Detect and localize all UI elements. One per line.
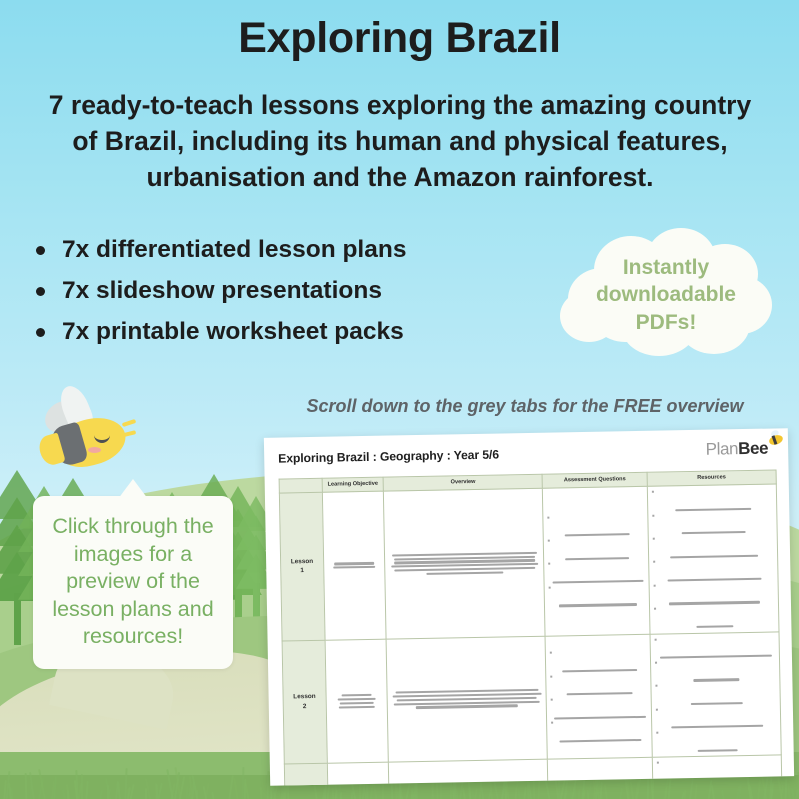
grass-blade (124, 768, 127, 799)
preview-callout-text: Click through the images for a preview o… (52, 514, 213, 648)
grass-blade (331, 788, 334, 799)
grass-blade (127, 787, 131, 799)
grass-blade (178, 776, 185, 799)
column-header-blank (279, 478, 322, 493)
grass-blade (619, 788, 623, 799)
grass-blade (8, 783, 11, 799)
bee-mascot-icon (30, 383, 135, 478)
resources-cell (652, 755, 784, 785)
list-item: 7x differentiated lesson plans (28, 236, 528, 264)
grass-blade (38, 778, 44, 799)
grass-blade (761, 773, 768, 799)
grass-blade (515, 787, 517, 799)
grass-blade (115, 781, 119, 799)
grass-blade (650, 776, 653, 799)
assessment-item (549, 562, 647, 602)
grass-blade (399, 783, 403, 799)
grass-blade (770, 782, 774, 799)
grass-blade (107, 785, 109, 799)
scroll-hint: Scroll down to the grey tabs for the FRE… (290, 396, 760, 417)
grass-blade (785, 774, 788, 799)
grass-blade (757, 780, 761, 799)
grass-blade (406, 782, 411, 799)
grass-blade (25, 773, 28, 799)
grass-blade (322, 788, 326, 799)
grass-blade (334, 790, 337, 799)
grass-blade (363, 786, 367, 799)
grass-blade (528, 790, 531, 799)
grass-blade (411, 788, 414, 799)
grass-blade (468, 787, 471, 799)
grass-blade (738, 781, 742, 799)
grass-blade (599, 782, 603, 799)
grass-blade (747, 773, 752, 799)
learning-objective-cell (322, 491, 386, 639)
grass-blade (462, 788, 466, 799)
resource-item (656, 707, 779, 747)
assessment-item (550, 651, 648, 691)
grass-blade (746, 777, 752, 799)
grass-blade (74, 779, 78, 799)
lesson-number: 2 (303, 703, 307, 710)
grass-blade (574, 781, 577, 799)
grass-blade (570, 785, 573, 799)
grass-blade (664, 786, 667, 799)
resource-item (654, 607, 777, 629)
assessment-item (548, 515, 646, 555)
grass-blade (52, 781, 56, 799)
grass-blade (340, 792, 343, 799)
grass-blade (11, 787, 14, 799)
grass-blade (736, 786, 740, 799)
logo-text-bee: Bee (738, 439, 768, 460)
resource-item (657, 784, 780, 785)
grass-blade (272, 784, 277, 799)
grass-blade (396, 787, 400, 799)
grass-blade (196, 790, 198, 799)
table-body: Lesson1Lesson2Lesson3Lesson4Lesson5Lesso… (279, 484, 794, 786)
grass-blade (713, 791, 717, 799)
grass-blade (770, 789, 774, 799)
grass-blade (191, 783, 195, 799)
bee-cheek (88, 447, 101, 453)
grass-blade (127, 788, 130, 799)
grass-blade (351, 792, 354, 799)
assessment-item (551, 674, 649, 714)
grass-blade (85, 781, 88, 799)
assessment-item (551, 721, 649, 743)
lesson-number: 1 (300, 568, 304, 575)
grass-blade (578, 789, 581, 799)
grass-blade (53, 776, 57, 799)
grass-blade (564, 790, 568, 799)
assessment-questions-cell (545, 634, 652, 760)
cloud-badge-line-1: Instantly (623, 256, 709, 279)
assessment-questions-cell (543, 487, 650, 636)
grass-blade (266, 771, 269, 799)
cloud-badge-text: Instantly downloadable PDFs! (560, 254, 772, 336)
assessment-item (551, 697, 649, 737)
grass-blade (76, 770, 79, 799)
preview-callout[interactable]: Click through the images for a preview o… (33, 496, 233, 669)
grass-blade (6, 771, 11, 799)
grass-blade (62, 788, 66, 799)
grass-blade (707, 780, 712, 799)
assessment-item (549, 585, 647, 607)
grass-blade (450, 784, 455, 799)
grass-blade (166, 769, 173, 799)
grass-blade (154, 783, 157, 799)
lesson-label: Lesson (293, 693, 315, 700)
grass-blade (791, 788, 795, 799)
resource-item (655, 660, 778, 700)
grass-blade (170, 783, 175, 799)
logo-text-plan: Plan (706, 439, 739, 460)
grass-blade (38, 770, 46, 799)
grass-blade (158, 783, 163, 799)
grass-blade (277, 785, 281, 799)
table-row: Lesson1 (279, 484, 779, 640)
lesson-number-cell: Lesson3 (284, 764, 329, 786)
grass-blade (367, 783, 369, 799)
overview-cell (386, 636, 547, 763)
grass-blade (174, 772, 180, 799)
overview-cell (389, 760, 551, 786)
cloud-badge-line-3: PDFs! (636, 311, 697, 334)
lesson-label: Lesson (291, 558, 313, 565)
grass-blade (571, 779, 577, 799)
grass-blade (105, 778, 111, 799)
grass-blade (228, 775, 234, 799)
page-subtitle: 7 ready-to-teach lessons exploring the a… (40, 88, 760, 195)
resource-item (657, 761, 780, 786)
grass-blade (233, 778, 238, 799)
column-header-learning-objective: Learning Objective (322, 477, 384, 492)
grass-blade (634, 780, 639, 799)
grass-blade (260, 787, 263, 799)
lesson-number-cell: Lesson1 (279, 493, 324, 641)
callout-tail (118, 479, 148, 499)
grass-blade (66, 784, 70, 799)
grass-blade (587, 790, 590, 799)
grass-blade (144, 778, 150, 799)
grass-blade (175, 767, 182, 799)
grass-blade (517, 789, 520, 799)
grass-blade (188, 776, 192, 799)
grass-blade (493, 780, 499, 799)
grass-blade (203, 786, 208, 799)
grass-blade (244, 779, 246, 799)
promo-graphic: Exploring Brazil 7 ready-to-teach lesson… (0, 0, 799, 799)
document-title: Exploring Brazil : Geography : Year 5/6 (278, 444, 499, 466)
grass-blade (604, 784, 608, 799)
grass-blade (455, 789, 459, 799)
resource-item (652, 490, 775, 530)
grass-blade (155, 784, 158, 799)
grass-blade (694, 783, 698, 799)
grass-blade (78, 783, 82, 799)
grass-blade (596, 788, 600, 799)
grass-blade (204, 783, 209, 799)
grass-blade (624, 783, 629, 799)
learning-objective-cell (327, 762, 391, 785)
grass-blade (29, 772, 35, 799)
grass-blade (780, 785, 784, 799)
cloud-badge: Instantly downloadable PDFs! (560, 228, 772, 356)
planbee-logo: PlanBee (706, 438, 777, 459)
grass-blade (192, 775, 199, 799)
resources-cell (647, 484, 779, 634)
grass-blade (554, 779, 559, 799)
grass-blade (763, 775, 769, 799)
page-title: Exploring Brazil (0, 14, 799, 63)
grass-blade (3, 779, 7, 799)
grass-blade (787, 784, 791, 799)
grass-blade (189, 788, 192, 799)
assessment-item (548, 539, 646, 579)
grass-blade (748, 785, 753, 799)
grass-blade (598, 779, 600, 799)
grass-blade (684, 790, 687, 799)
grass-blade (711, 785, 715, 799)
grass-blade (107, 789, 111, 799)
grass-blade (117, 782, 121, 799)
resource-item (653, 583, 776, 623)
grass-blade (187, 792, 191, 799)
table-row: Lesson2 (282, 631, 781, 764)
resource-item (655, 684, 778, 724)
grass-blade (155, 789, 159, 799)
grass-blade (474, 788, 478, 799)
grass-blade (681, 792, 684, 799)
bee-buzz-line (122, 419, 137, 427)
resource-item (654, 637, 777, 677)
grass-blade (382, 781, 384, 799)
lesson-number-cell: Lesson2 (282, 640, 327, 765)
overview-cell (384, 488, 546, 638)
grass-blade (523, 787, 526, 799)
cloud-badge-line-2: downloadable (596, 283, 736, 306)
grass-blade (67, 790, 69, 799)
grass-blade (186, 786, 189, 799)
grass-blade (778, 777, 784, 799)
grass-blade (81, 774, 83, 799)
grass-blade (721, 790, 725, 799)
grass-blade (211, 792, 214, 799)
grass-blade (488, 789, 492, 799)
resource-item (653, 560, 776, 600)
list-item: 7x printable worksheet packs (28, 318, 528, 346)
grass-blade (453, 780, 458, 799)
grass-blade (652, 777, 654, 799)
grass-blade (99, 790, 102, 799)
grass-blade (129, 784, 134, 799)
scheme-of-work-table: Learning Objective Overview Assessment Q… (279, 469, 795, 785)
grass-blade (174, 783, 178, 799)
grass-blade (244, 782, 249, 799)
learning-objective-cell (325, 639, 389, 764)
grass-blade (30, 780, 32, 799)
feature-list: 7x differentiated lesson plans 7x slides… (28, 236, 528, 360)
grass-blade (582, 790, 585, 799)
grass-blade (471, 788, 475, 799)
assessment-questions-cell (548, 758, 655, 786)
grass-blade (399, 787, 402, 799)
grass-blade (749, 791, 751, 799)
grass-blade (270, 786, 273, 799)
grass-blade (650, 776, 654, 799)
grass-blade (795, 789, 799, 799)
resources-cell (650, 631, 781, 757)
grass-blade (359, 784, 361, 799)
grass-blade (145, 788, 147, 799)
resource-item (656, 731, 779, 753)
resource-item (652, 537, 775, 577)
grass-blade (242, 767, 245, 799)
logo-bee-icon (767, 431, 786, 445)
resource-item (652, 513, 775, 553)
list-item: 7x slideshow presentations (28, 277, 528, 305)
grass-blade (600, 787, 603, 799)
scheme-of-work-document[interactable]: Exploring Brazil : Geography : Year 5/6 … (264, 428, 794, 786)
